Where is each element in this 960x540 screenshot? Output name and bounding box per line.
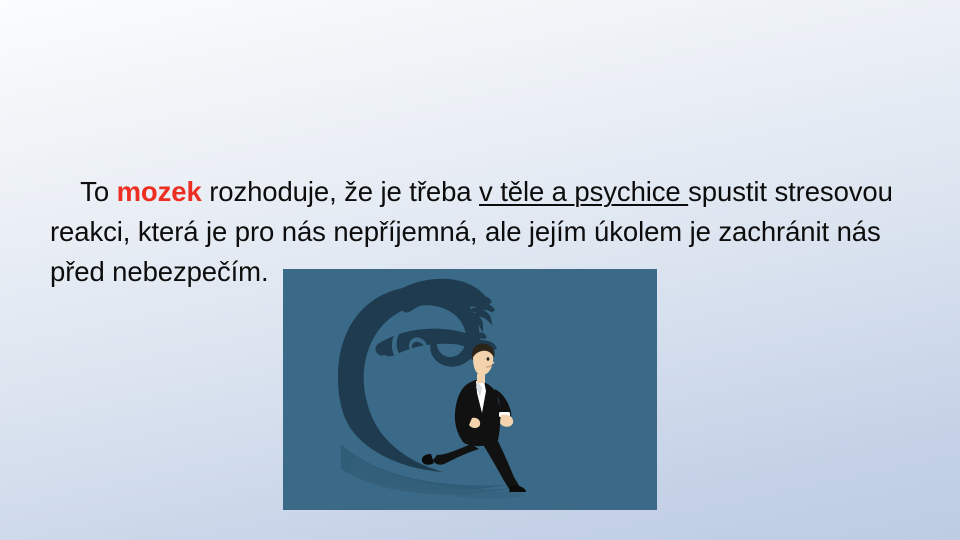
illustration-svg — [283, 269, 657, 510]
man-eye — [487, 357, 490, 360]
text-segment-highlight-mozek: mozek — [117, 176, 202, 207]
slide-canvas: To mozek rozhoduje, že je třeba v těle a… — [0, 0, 960, 540]
text-segment-plain-1: To — [80, 176, 116, 207]
man-neck — [477, 374, 485, 383]
text-segment-plain-2: rozhoduje, že je třeba — [202, 176, 479, 207]
illustration-man-running-from-shadow-monster — [283, 269, 657, 510]
text-segment-underlined: v těle a psychice — [479, 176, 688, 207]
man-ground-shadow — [452, 492, 524, 499]
